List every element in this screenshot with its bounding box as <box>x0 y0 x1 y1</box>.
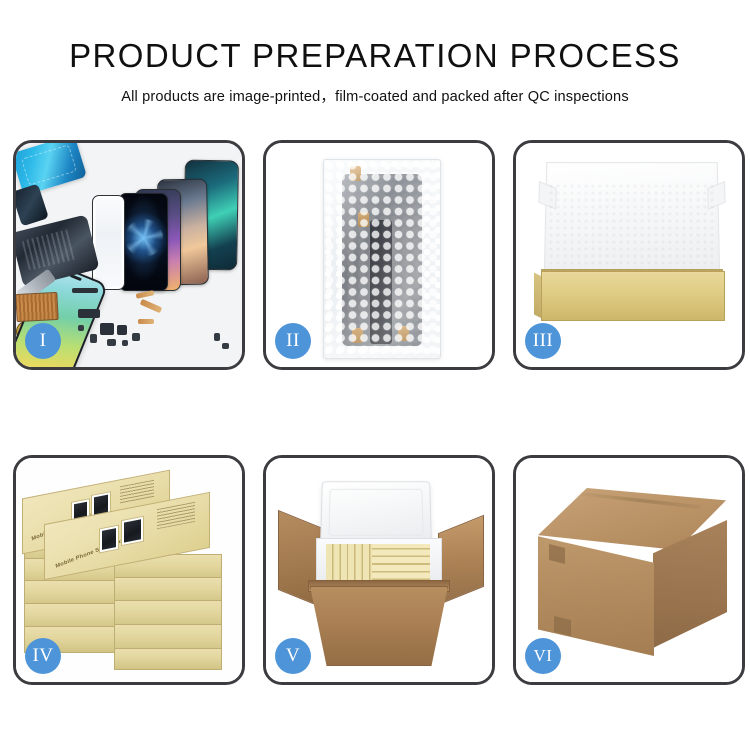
flex-cable-part <box>140 299 163 313</box>
spare-part-dot <box>78 325 84 331</box>
box-spec-text <box>157 502 195 529</box>
step-badge-1: I <box>25 323 61 359</box>
plastic-sheen <box>324 160 440 358</box>
box-spec-text <box>120 480 154 505</box>
box-window <box>99 525 119 554</box>
step-badge-6: VI <box>525 638 561 674</box>
retail-box <box>114 648 222 670</box>
tempered-glass-protector <box>92 195 125 290</box>
spare-part-dot <box>122 340 128 346</box>
spare-part-bar <box>100 323 114 335</box>
flex-cable-part <box>138 319 154 324</box>
phone-black-glass-display <box>119 193 168 291</box>
page-subtitle: All products are image-printed，film-coat… <box>0 85 750 106</box>
process-step-card-1: I <box>13 140 245 370</box>
process-step-grid: I II III <box>13 140 737 685</box>
bubble-wrap-bag <box>323 159 441 359</box>
spare-part-bar <box>117 325 127 335</box>
flex-cable-part <box>136 290 155 299</box>
step-badge-5: V <box>275 638 311 674</box>
process-step-card-2: II <box>263 140 495 370</box>
step-badge-2: II <box>275 323 311 359</box>
step-badge-4: IV <box>25 638 61 674</box>
page-title: PRODUCT PREPARATION PROCESS <box>0 38 750 74</box>
process-step-card-6: VI <box>513 455 745 685</box>
page-header: PRODUCT PREPARATION PROCESS All products… <box>0 0 750 106</box>
foam-texture <box>548 183 714 275</box>
carton-body <box>310 586 448 666</box>
spare-part-bar <box>72 288 98 293</box>
box-window <box>121 516 144 546</box>
spare-part-dot <box>222 343 229 349</box>
process-step-card-3: III <box>513 140 745 370</box>
process-step-card-5: V <box>263 455 495 685</box>
spare-part-dot <box>132 333 140 341</box>
spare-part-dot <box>107 339 116 346</box>
foam-lid <box>320 481 432 544</box>
chip-grid-part <box>16 292 59 322</box>
spare-part-dot <box>90 334 97 343</box>
spare-part-dot <box>214 333 220 341</box>
small-dark-panel <box>16 184 49 227</box>
step-badge-3: III <box>525 323 561 359</box>
process-step-card-4: Mobile Phone Spare Parts Mobile Phone Sp… <box>13 455 245 685</box>
spare-part-bar <box>78 309 100 318</box>
kraft-box-front <box>541 271 725 321</box>
